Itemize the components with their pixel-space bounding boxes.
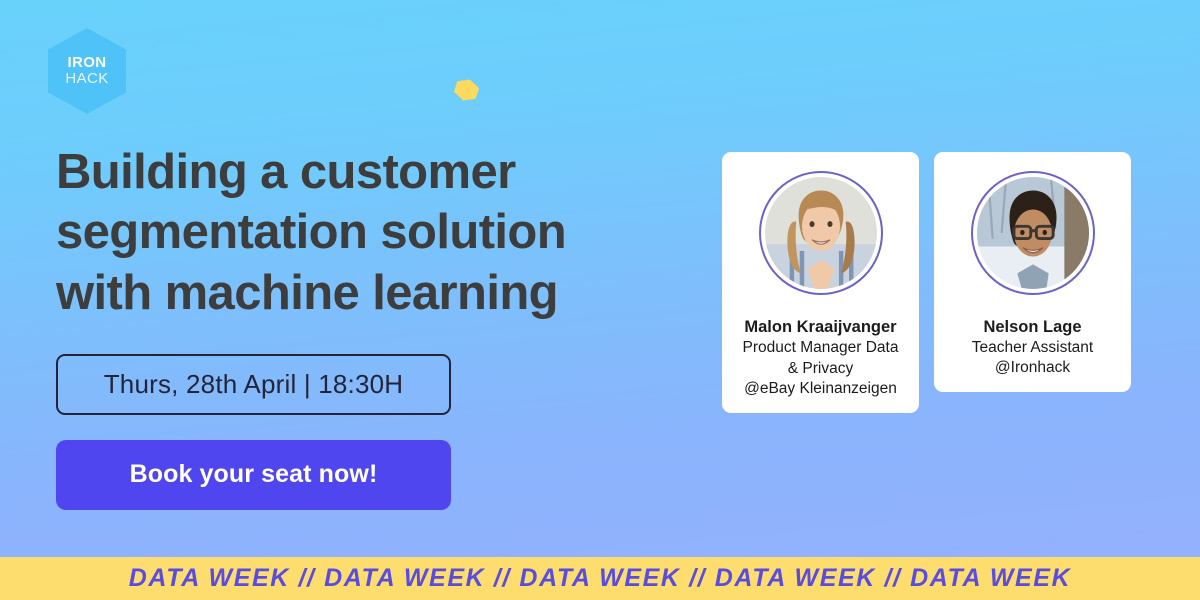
hexagon-decoration-icon — [452, 76, 481, 104]
speaker-card: Nelson Lage Teacher Assistant @Ironhack — [934, 152, 1131, 392]
event-date-badge: Thurs, 28th April | 18:30H — [56, 354, 451, 415]
ironhack-logo: IRON HACK — [48, 28, 126, 114]
speaker-role-line1: Product Manager Data — [743, 338, 899, 358]
book-seat-button[interactable]: Book your seat now! — [56, 440, 451, 510]
avatar — [977, 177, 1089, 289]
avatar — [765, 177, 877, 289]
avatar-ring — [759, 171, 883, 295]
speaker-card-list: Malon Kraaijvanger Product Manager Data … — [722, 152, 1131, 413]
logo-text-hack: HACK — [65, 71, 108, 87]
speaker-card: Malon Kraaijvanger Product Manager Data … — [722, 152, 919, 413]
speaker-organization: @eBay Kleinanzeigen — [744, 379, 897, 399]
data-week-ticker: DATA WEEK // DATA WEEK // DATA WEEK // D… — [0, 557, 1200, 600]
logo-text-iron: IRON — [67, 55, 106, 71]
ticker-text: DATA WEEK // DATA WEEK // DATA WEEK // D… — [129, 564, 1071, 593]
speaker-organization: @Ironhack — [995, 358, 1070, 378]
hero-content: Building a customer segmentation solutio… — [56, 142, 656, 510]
page-title: Building a customer segmentation solutio… — [56, 142, 656, 323]
speaker-role-line1: Teacher Assistant — [972, 338, 1093, 358]
avatar-ring — [971, 171, 1095, 295]
speaker-name: Nelson Lage — [983, 317, 1081, 337]
speaker-role-line2: & Privacy — [788, 359, 853, 379]
speaker-name: Malon Kraaijvanger — [744, 317, 896, 337]
